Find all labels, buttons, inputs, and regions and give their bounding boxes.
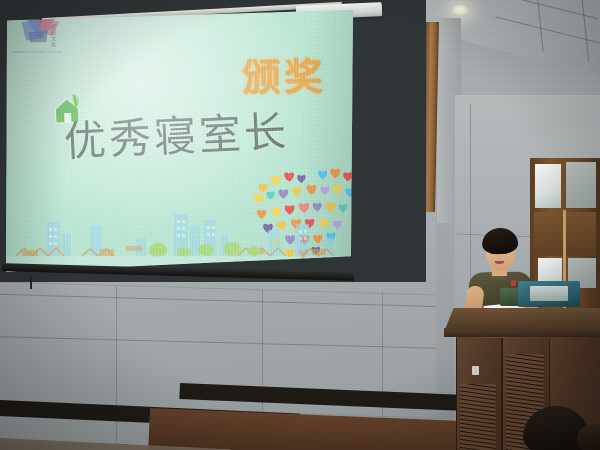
photo-scene: Electric [0,0,600,450]
audience-head-side [577,424,600,450]
screen-pull-hook [30,276,32,289]
podium-desktop [444,308,600,332]
podium-device-small[interactable] [500,288,520,306]
screen-edge-shading [6,10,353,272]
podium-button[interactable] [472,366,479,375]
projection-screen: 校园文化 CAMPUS CULTURE FESTIVAL 颁奖 优秀寝室长 [6,10,353,272]
speaker-hair [481,227,518,255]
ceiling-downlight [452,5,468,15]
podium-vent-left [460,384,496,450]
podium-equipment[interactable] [518,281,580,307]
speaker-mouth [495,261,504,264]
speaker-badge [511,280,516,286]
